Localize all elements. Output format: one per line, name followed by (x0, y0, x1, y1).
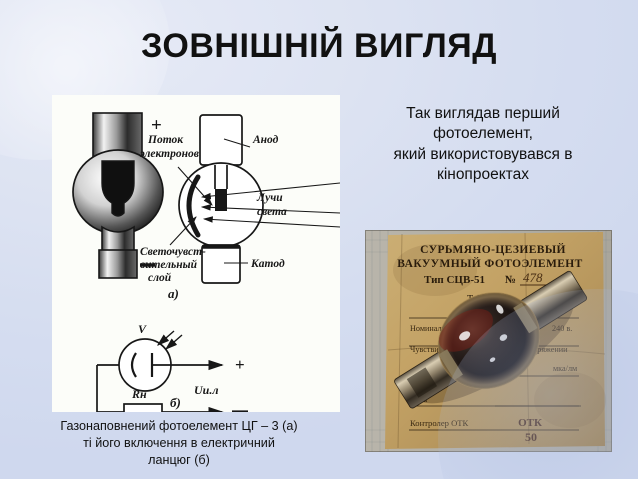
figure-caption-line-1: Газонаповнений фотоелемент ЦГ – 3 (а) (18, 418, 340, 435)
stamp-line-2: 50 (525, 430, 537, 444)
description-line-4: кінопроектах (358, 165, 608, 185)
photocell-photograph: СУРЬМЯНО-ЦЕЗИЕВЫЙ ВАКУУМНЫЙ ФОТОЭЛЕМЕНТ … (365, 230, 612, 452)
stamp-line-1: ОТК (518, 417, 542, 429)
description-text-block: Так виглядав перший фотоелемент, який ви… (358, 104, 608, 186)
label-cathode: Катод (250, 258, 285, 270)
label-photosensitive-line2: вительный (140, 258, 198, 271)
label-photosensitive-line1: Светочувст- (140, 246, 206, 258)
diagram-a-plus-sign: + (151, 115, 162, 136)
photocell-diagram-image: + (52, 95, 340, 412)
circuit-terminal-plus: + (235, 355, 245, 374)
doc-number-symbol: № (505, 274, 516, 286)
doc-field-units: мка/лм (553, 364, 577, 373)
circuit-label-tube: V (138, 322, 147, 336)
description-line-2: фотоелемент, (358, 124, 608, 144)
label-photosensitive-line3: слой (148, 271, 172, 284)
label-part-a: а) (168, 286, 179, 301)
figure-caption: Газонаповнений фотоелемент ЦГ – 3 (а) ті… (18, 418, 340, 469)
doc-header-line-2: ВАКУУМНЫЙ ФОТОЭЛЕМЕНТ (397, 256, 582, 270)
page-title: ЗОВНІШНІЙ ВИГЛЯД (0, 27, 638, 66)
doc-serial-number: 478 (523, 270, 543, 285)
slide-canvas: ЗОВНІШНІЙ ВИГЛЯД Так виглядав перший фот… (0, 0, 638, 479)
label-anode: Анод (252, 134, 279, 146)
label-electron-flow-line2: электронов (139, 148, 199, 160)
circuit-label-voltage: Uи.л (194, 383, 219, 397)
description-line-1: Так виглядав перший (358, 104, 608, 124)
doc-header-line-1: СУРЬМЯНО-ЦЕЗИЕВЫЙ (420, 242, 566, 256)
doc-field-inspector: Контролер ОТК (410, 418, 469, 428)
label-light-rays-line2: света (257, 206, 287, 218)
figure-caption-line-3: ланцюг (б) (18, 452, 340, 469)
circuit-label-load-resistor: Rн (131, 387, 147, 401)
label-part-b: б) (170, 395, 181, 410)
label-electron-flow-line1: Поток (147, 134, 184, 146)
figure-caption-line-2: ті його включення в електричний (18, 435, 340, 452)
diagram-b-circuit (97, 339, 222, 412)
description-line-3: який використовувався в (358, 145, 608, 165)
doc-type-label: Тип СЦВ-51 (424, 274, 485, 286)
label-light-rays-line1: Лучи (256, 192, 283, 204)
